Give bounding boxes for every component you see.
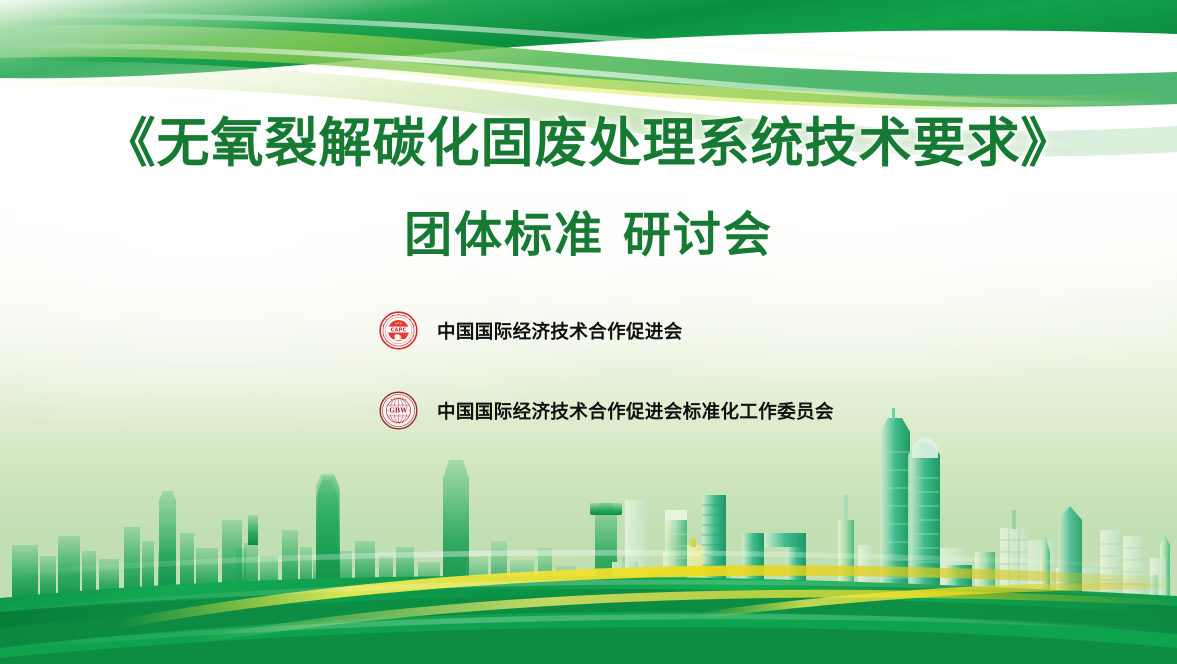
organization-name-gbw: 中国国际经济技术合作促进会标准化工作委员会 xyxy=(437,398,834,424)
page-subtitle: 团体标准 研讨会 xyxy=(0,204,1177,266)
gbw-globe-seal-icon: GBW xyxy=(379,391,418,430)
page-title: 《无氧裂解碳化固废处理系统技术要求》 xyxy=(0,110,1177,178)
organization-row-gbw: GBW 中国国际经济技术合作促进会标准化工作委员会 xyxy=(379,391,834,430)
organization-name-capc: 中国国际经济技术合作促进会 xyxy=(437,318,683,344)
presentation-slide: 《无氧裂解碳化固废处理系统技术要求》 团体标准 研讨会 xyxy=(0,0,1177,664)
svg-text:GBW: GBW xyxy=(389,407,408,414)
capc-red-seal-icon: CAPC xyxy=(379,311,418,350)
svg-text:CAPC: CAPC xyxy=(391,327,407,333)
organization-row-capc: CAPC 中国国际经济技术合作促进会 xyxy=(379,311,683,350)
